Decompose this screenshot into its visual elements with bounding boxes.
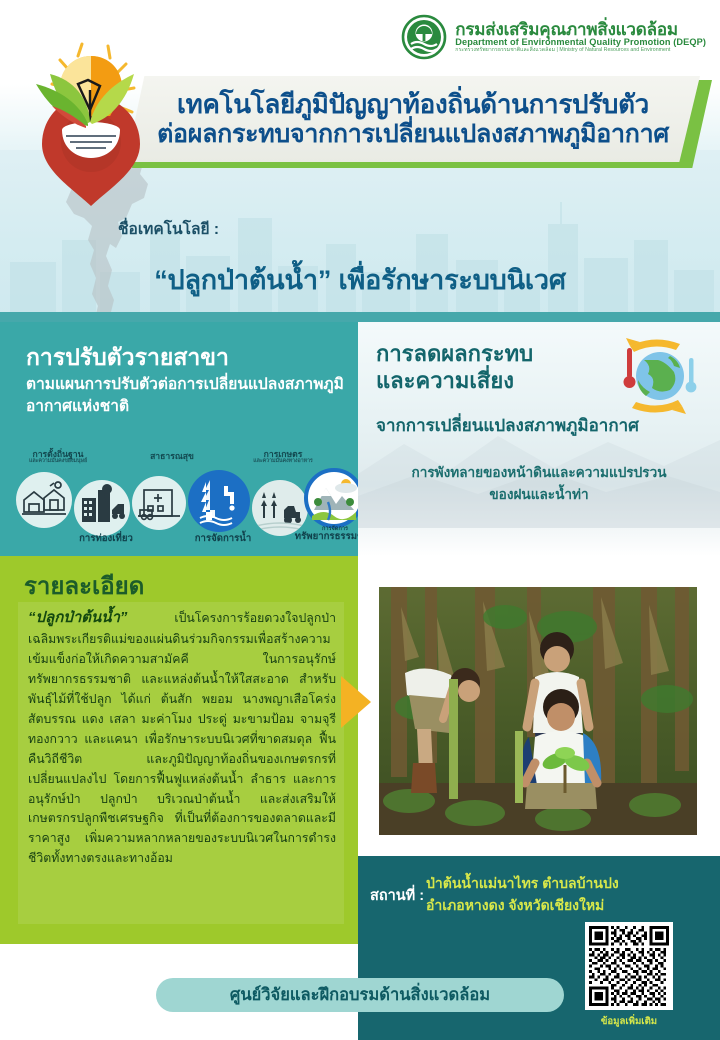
details-paragraph: “ปลูกป่าต้นน้ำ” เป็นโครงการร้อยดวงใจปลูก… [28,606,336,869]
green-accent-edge [0,856,10,956]
poster-title-line2: ต่อผลกระทบจากการเปลี่ยนแปลงสภาพภูมิอากาศ [157,120,669,149]
thermometer-hot-icon [624,348,636,388]
technology-name: “ปลูกป่าต้นน้ำ” เพื่อรักษาระบบนิเวศ [0,258,720,301]
sector-label-tourism: การท่องเที่ยว [60,534,152,545]
poster-root: เทคโนโลยีภูมิปัญญาท้องถิ่นด้านการปรับตัว… [0,0,720,1040]
details-textbox: “ปลูกป่าต้นน้ำ” เป็นโครงการร้อยดวงใจปลูก… [18,602,344,924]
mitigation-subheading: จากการเปลี่ยนแปลงสภาพภูมิอากาศ [376,412,639,439]
sector-label-water: การจัดการน้ำ [176,534,270,545]
details-panel: รายละเอียด “ปลูกป่าต้นน้ำ” เป็นโครงการร้… [0,556,358,944]
org-name-en: Department of Environmental Quality Prom… [455,38,706,47]
location-panel: สถานที่ : ป่าต้นน้ำแม่นาไทร ตำบลบ้านปง อ… [358,856,720,1040]
sector-label-agriculture: การเกษตร และความมั่นคงทางอาหาร [230,450,336,465]
water-management-tap-river-icon[interactable] [188,470,250,532]
adaptation-panel: การปรับตัวรายสาขา ตามแผนการปรับตัวต่อการ… [0,322,358,556]
globe-thermometer-climate-icon [608,336,704,420]
mitigation-panel: การลดผลกระทบ และความเสี่ยง จากการเปลี่ยน… [358,322,720,556]
details-lead: “ปลูกป่าต้นน้ำ” [28,609,127,626]
technology-label: ชื่อเทคโนโลยี : [118,216,219,241]
sector-label-settlement: การตั้งถิ่นฐาน และความมั่นคงของมนุษย์ [8,450,108,465]
mitigation-heading: การลดผลกระทบ และความเสี่ยง [376,340,606,395]
sector-icons-strip: การตั้งถิ่นฐาน และความมั่นคงของมนุษย์ สา… [8,450,352,550]
tourism-city-car-icon[interactable] [74,480,130,536]
mitigation-body: การพังทลายของหน้าดินและความแปรปรวน ของฝน… [368,462,710,506]
ribbon-face: เทคโนโลยีภูมิปัญญาท้องถิ่นด้านการปรับตัว… [126,76,700,162]
location-label: สถานที่ : [370,884,424,907]
title-ribbon: เทคโนโลยีภูมิปัญญาท้องถิ่นด้านการปรับตัว… [126,76,712,168]
org-ministry: กระทรวงทรัพยากรธรรมชาติและสิ่งแวดล้อม | … [455,48,706,53]
sector-label-health: สาธารณสุข [126,452,218,461]
org-name-th: กรมส่งเสริมคุณภาพสิ่งแวดล้อม [455,21,706,38]
adaptation-subheading: ตามแผนการปรับตัวต่อการเปลี่ยนแปลงสภาพภูม… [26,374,346,418]
children-planting-trees-forest-photo [379,587,697,835]
logo-text-block: กรมส่งเสริมคุณภาพสิ่งแวดล้อม Department … [455,21,706,54]
details-title: รายละเอียด [24,566,144,605]
teal-divider [0,312,720,322]
sector-label-natural-resources: การจัดการ ทรัพยากรธรรมชาติ [280,526,358,543]
footer-pill: ศูนย์วิจัยและฝึกอบรมด้านสิ่งแวดล้อม [156,978,564,1012]
natural-resources-mountain-icon[interactable] [304,468,358,528]
lightbulb-leaf-map-pin-icon [16,38,166,208]
project-photo-frame [374,582,702,840]
public-health-hospital-icon[interactable] [132,476,186,530]
deqp-logo: กรมส่งเสริมคุณภาพสิ่งแวดล้อม Department … [401,14,706,60]
thermometer-cold-icon [686,358,697,392]
settlement-houses-icon[interactable] [16,472,72,528]
deqp-tree-water-seal-icon [401,14,447,60]
details-body: เป็นโครงการร้อยดวงใจปลูกป่าเฉลิมพระเกียร… [28,611,336,865]
qr-caption: ข้อมูลเพิ่มเติม [585,1014,673,1029]
qr-code-icon[interactable] [585,922,673,1010]
footer-text: ศูนย์วิจัยและฝึกอบรมด้านสิ่งแวดล้อม [230,982,490,1008]
location-value: ป่าต้นน้ำแม่นาไทร ตำบลบ้านปง อำเภอหางดง … [426,872,656,917]
adaptation-heading: การปรับตัวรายสาขา [26,340,229,376]
poster-title-line1: เทคโนโลยีภูมิปัญญาท้องถิ่นด้านการปรับตัว [177,89,649,119]
